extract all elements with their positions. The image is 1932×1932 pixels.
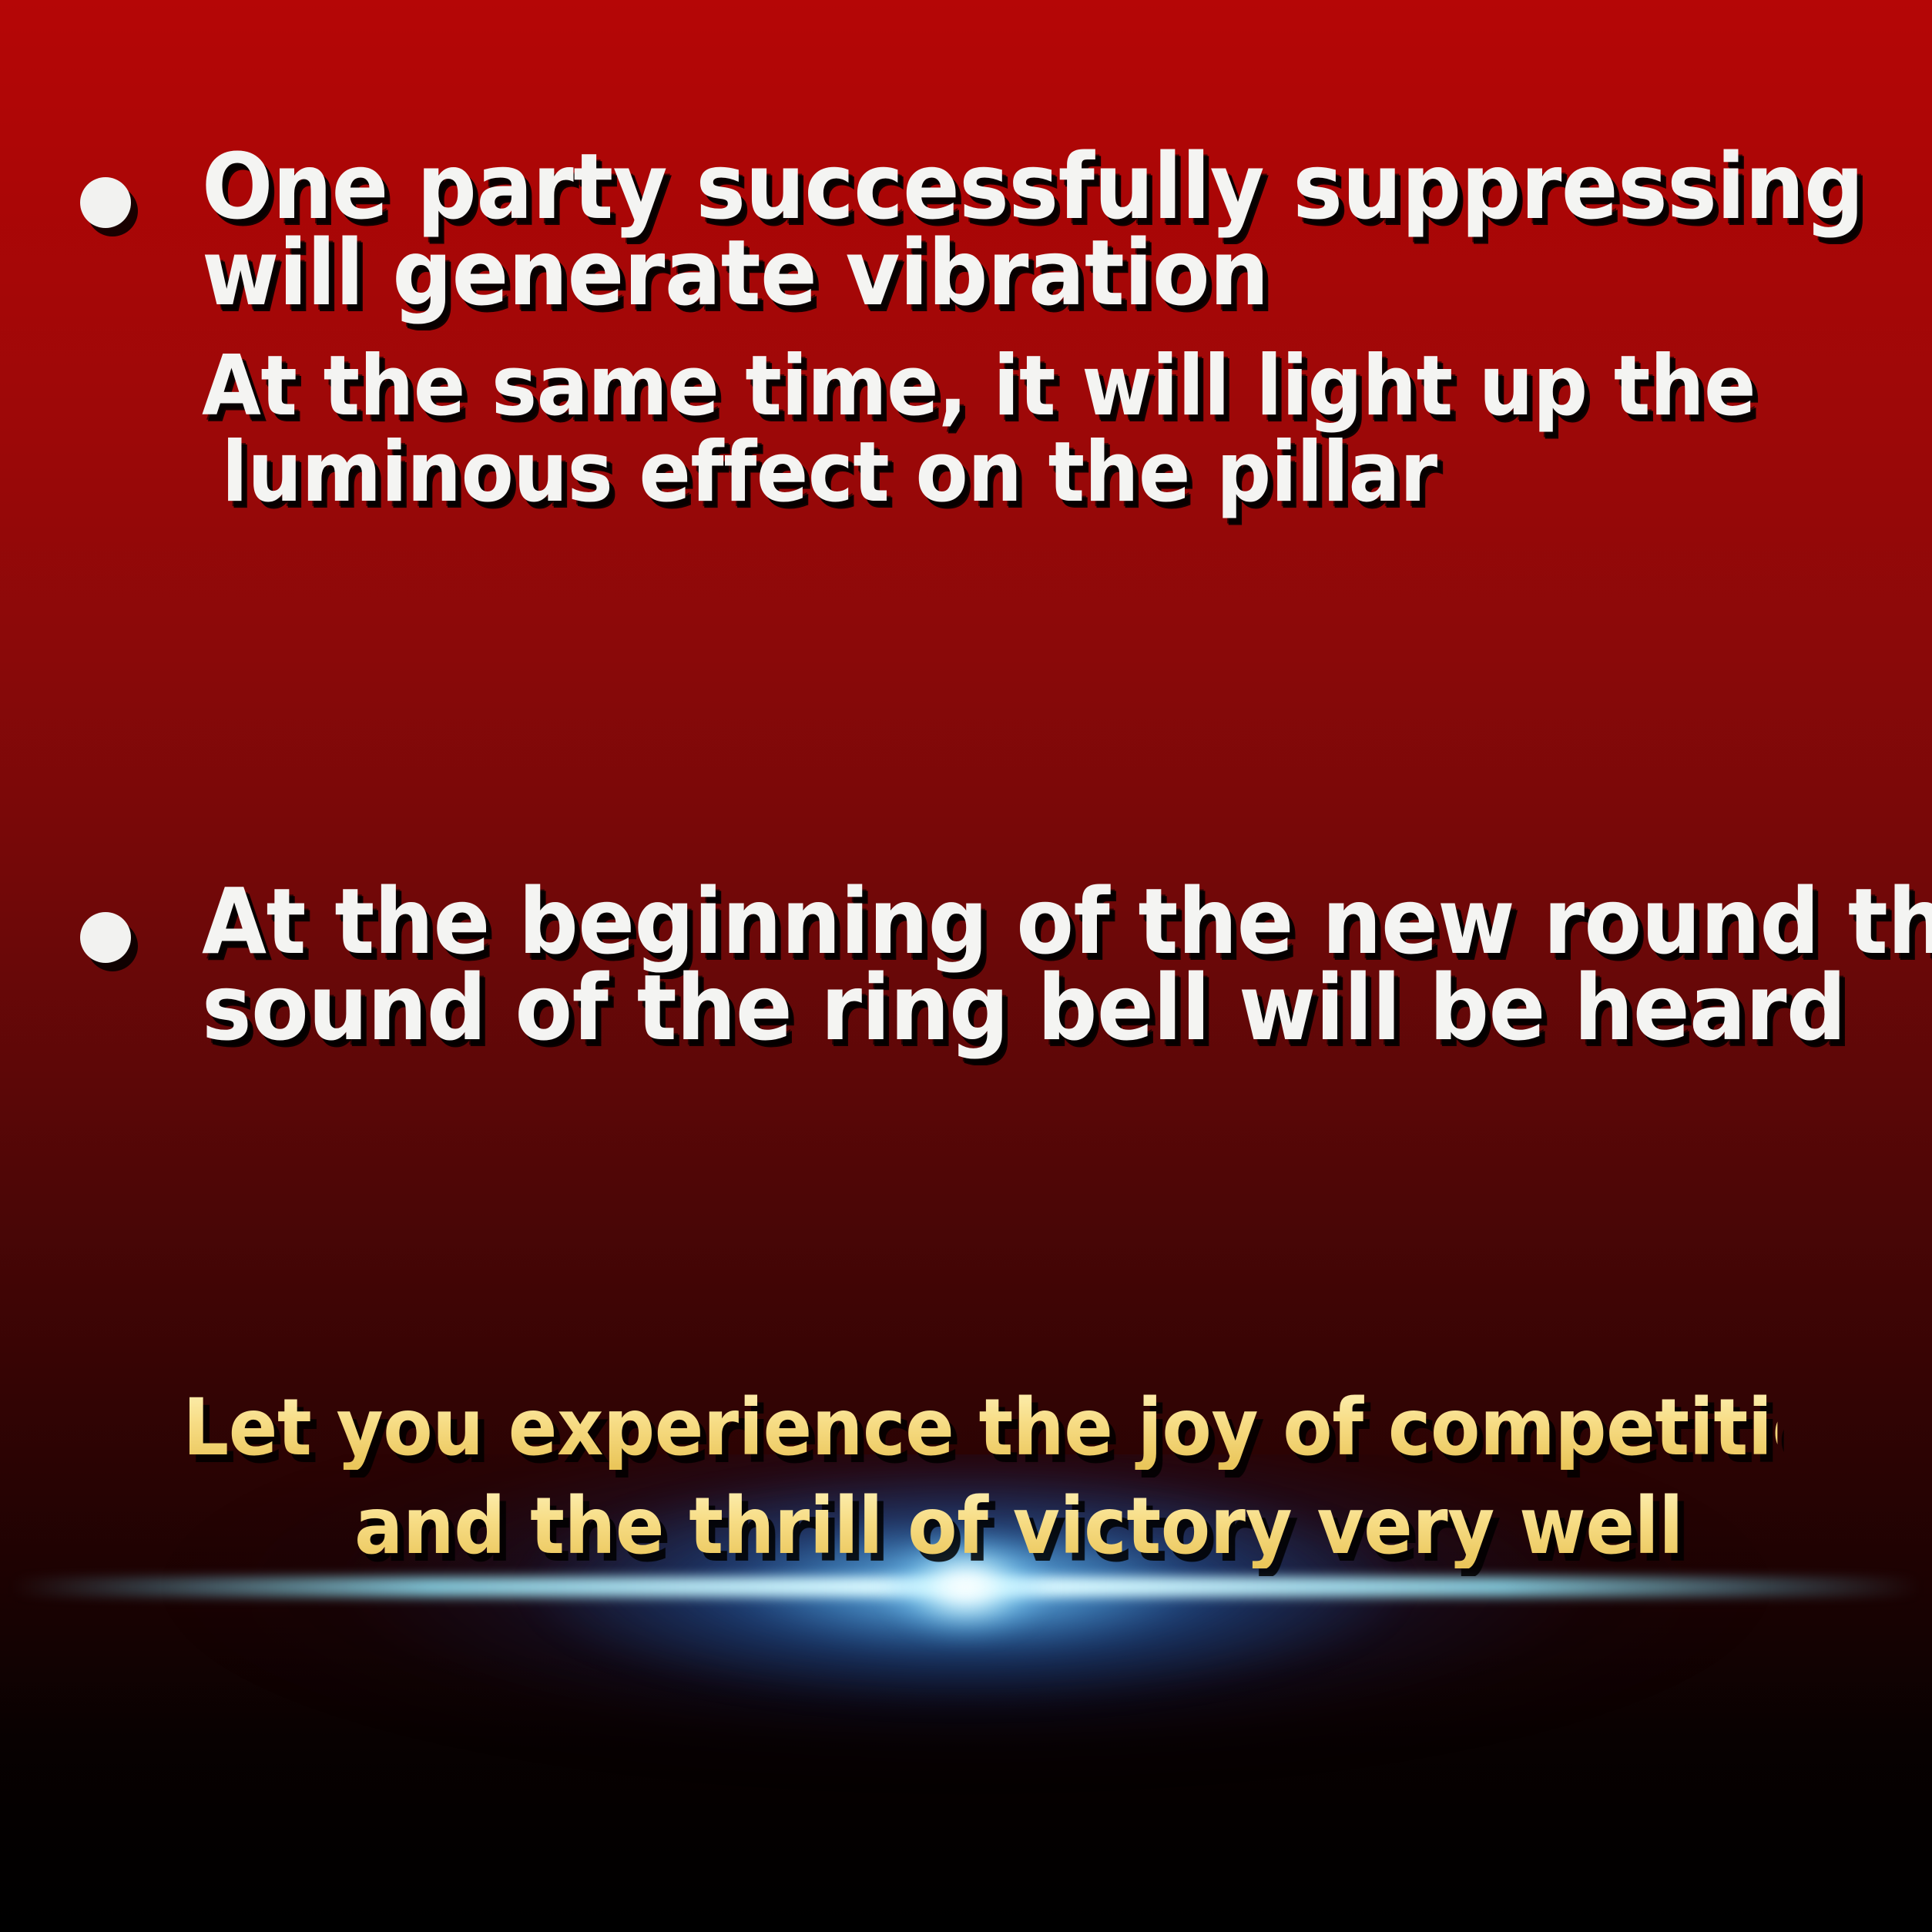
bullet-dot-icon	[80, 177, 131, 228]
bullet-1-sub-line-1: At the same time, it will light up the	[202, 344, 1793, 430]
bullet-2-line-2: sound of the ring bell will be heard	[202, 964, 1793, 1051]
bullet-2-line-1: At the beginning of the new round the	[202, 878, 1793, 964]
bullet-1-line-1: One party successfully suppressing	[202, 143, 1793, 230]
bullet-block-1: One party successfully suppressing will …	[0, 143, 1932, 516]
closing-line-2: and the thrill of victory very well	[0, 1485, 1777, 1568]
slide-canvas: One party successfully suppressing will …	[0, 0, 1932, 1932]
bullet-row-1: One party successfully suppressing will …	[0, 143, 1932, 516]
closing-statement: Let you experience the joy of competitio…	[0, 1387, 1932, 1568]
bullet-row-2: At the beginning of the new round the so…	[0, 878, 1932, 1051]
bullet-block-2: At the beginning of the new round the so…	[0, 878, 1932, 1051]
slide-content: One party successfully suppressing will …	[0, 0, 1932, 1932]
bullet-dot-icon	[80, 912, 131, 963]
bullet-1-sub-line-2: luminous effect on the pillar	[202, 430, 1793, 516]
bullet-1-line-2: will generate vibration	[202, 230, 1793, 316]
closing-line-1: Let you experience the joy of competitio…	[0, 1387, 1777, 1470]
